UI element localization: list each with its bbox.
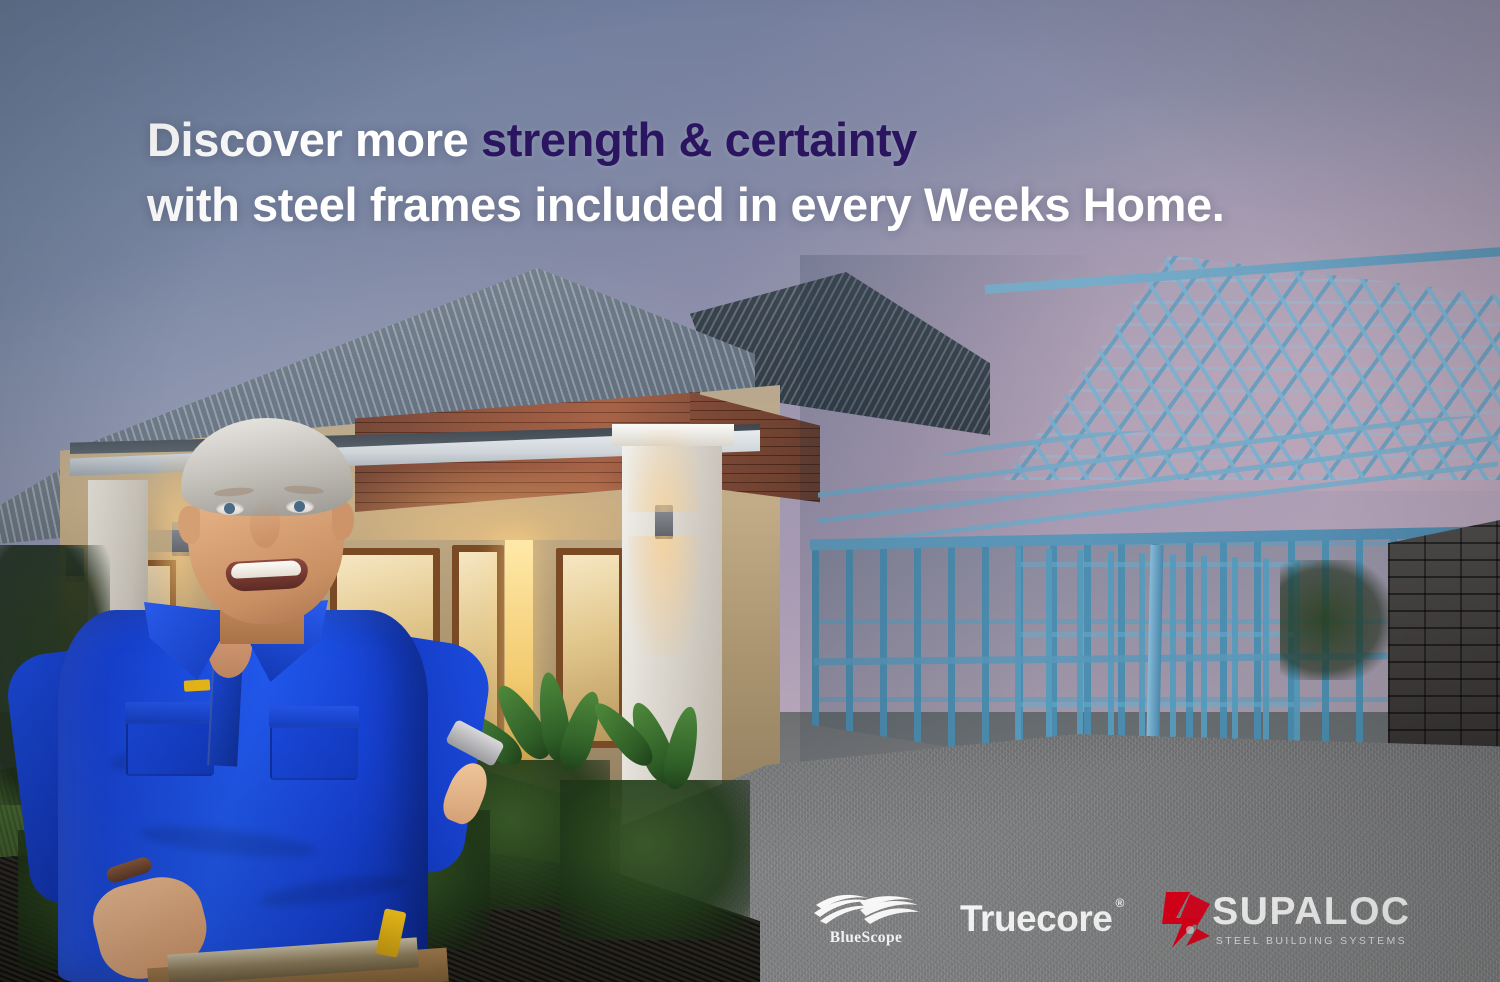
headline-line2: with steel frames included in every Week…	[147, 178, 1224, 231]
supaloc-logo: SUPALOC STEEL BUILDING SYSTEMS	[1160, 888, 1410, 950]
wall-light-downbeam	[628, 536, 700, 656]
roof-purlins	[818, 415, 1498, 545]
supaloc-tagline: STEEL BUILDING SYSTEMS	[1212, 935, 1410, 947]
page-title: Discover more strength & certaintywith s…	[147, 108, 1397, 238]
truecore-registered-icon: ®	[1115, 896, 1124, 910]
presenter-figure	[18, 410, 498, 982]
shirt-brand-tag	[184, 679, 211, 691]
headline-accent: strength & certainty	[481, 113, 917, 166]
bluescope-ribbons-icon	[812, 892, 920, 926]
headline-line1-pre: Discover more	[147, 113, 481, 166]
pupil-left	[224, 503, 235, 514]
shrub-center-right	[560, 780, 750, 940]
truecore-logo: Truecore ®	[960, 898, 1112, 940]
wall-light-upbeam	[628, 430, 700, 512]
background-tree-right	[1280, 560, 1390, 680]
supaloc-red-bolt-icon	[1160, 888, 1218, 950]
supaloc-wordmark: SUPALOC	[1212, 892, 1410, 931]
shirt-pocket-flap-left	[125, 702, 215, 724]
shirt-pocket-flap-right	[269, 706, 359, 728]
pupil-right	[294, 501, 305, 512]
nose	[250, 502, 280, 548]
bluescope-logo: BlueScope	[812, 892, 920, 947]
bluescope-wordmark: BlueScope	[830, 929, 903, 947]
truecore-wordmark: Truecore	[960, 898, 1112, 940]
partner-logo-bar: BlueScope Truecore ® SUPALOC STEEL BUILD…	[812, 880, 1332, 958]
marketing-banner: Discover more strength & certaintywith s…	[0, 0, 1500, 982]
hand-right-pointing	[416, 790, 500, 908]
supaloc-text-block: SUPALOC STEEL BUILDING SYSTEMS	[1212, 892, 1410, 947]
ear-left	[178, 506, 200, 544]
